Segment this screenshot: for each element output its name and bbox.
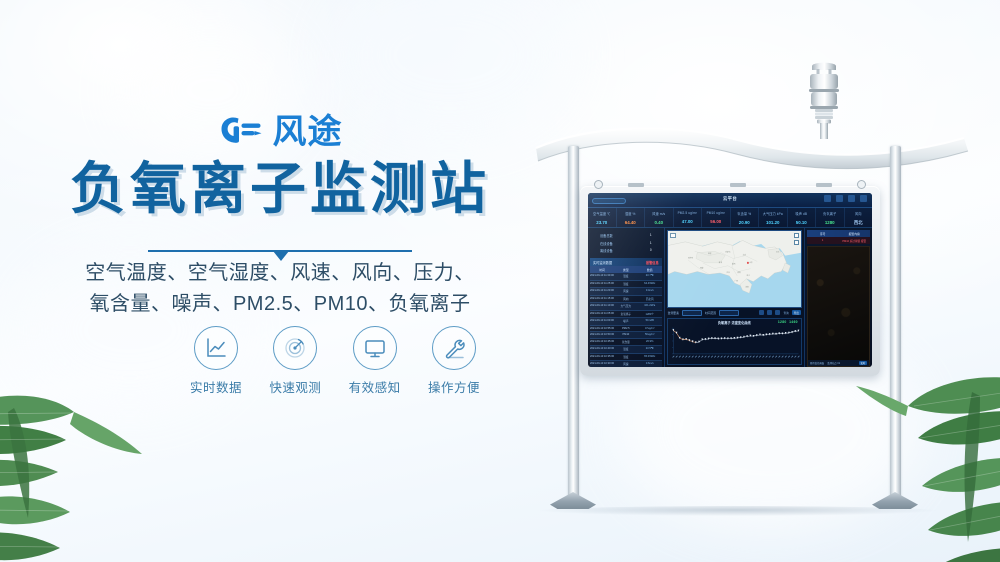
- device-stat-row: 离线设备0: [594, 247, 658, 254]
- dashboard-screen[interactable]: 云平台 空气温度 ℃23.70湿度 %64.40风速 m/s0.40PM2.5 …: [588, 193, 872, 367]
- wrench-icon: [432, 326, 476, 370]
- stat-label: 在线设备: [600, 241, 613, 246]
- metric-name: 风速 m/s: [645, 211, 673, 216]
- table-cell: 2021-09-13 11:25:00: [590, 281, 614, 288]
- metric-name: 大气压力 kPa: [759, 211, 787, 216]
- data-table-header: 实时监测数据 报警信息: [590, 258, 662, 266]
- feature-label: 有效感知: [341, 377, 409, 396]
- chart-date-label: 时间范围: [705, 311, 716, 315]
- table-cell: 温度: [614, 346, 638, 353]
- camera-label-left: 现场监控画面: [810, 361, 824, 365]
- table-row[interactable]: 2021-09-13 11:00:00噪声50.1dB: [590, 318, 662, 326]
- data-table-title: 实时监测数据: [593, 260, 612, 265]
- metric-card: 噪声 dB50.10: [788, 208, 817, 227]
- table-cell: 64.4%RH: [638, 281, 662, 288]
- metric-card: 风向西北: [845, 208, 873, 227]
- alarm-column-header: 序号: [807, 230, 839, 237]
- metric-name: PM2.5 ug/m³: [674, 211, 702, 215]
- table-cell: 风速: [614, 361, 638, 367]
- chart-query-button[interactable]: 查询: [783, 311, 788, 315]
- center-panel: 新疆内蒙古 北京山东 陕西青海 四川湖南 浙江广西 海南日本 西藏哈萨克: [665, 228, 804, 367]
- stat-label: 设备总数: [600, 233, 613, 238]
- device-stat-row: 设备总数1: [594, 232, 658, 239]
- table-cell: 20.9%: [638, 339, 662, 346]
- table-row[interactable]: 2021-09-13 11:05:00负氧离子1280个: [590, 311, 662, 319]
- chart-title: 负氧离子 浓度变化曲线: [718, 320, 751, 325]
- chart-element-select[interactable]: [682, 310, 702, 316]
- ground-shadow: [538, 506, 938, 516]
- hero-text-column: 风途 负氧离子监测站 空气温度、空气湿度、风速、风向、压力、 氧含量、噪声、PM…: [0, 0, 560, 562]
- table-row[interactable]: 2021-09-13 11:10:00大气压力101.2kPa: [590, 303, 662, 311]
- mount-clip-icon: [628, 183, 644, 187]
- right-panel: 序号报警内容 1PM10 超过阈值 报警 现场监控画面 监测站点 01 实时: [804, 228, 872, 367]
- table-cell: 47ug/m³: [638, 326, 662, 332]
- table-cell: 23.7℃: [638, 273, 662, 280]
- dashboard-body: 设备总数1在线设备1离线设备0 实时监测数据 报警信息 时间类型数值 2021-…: [588, 228, 872, 367]
- metric-value: 1280: [816, 220, 844, 225]
- metric-card: 风速 m/s0.40: [645, 208, 674, 227]
- table-row[interactable]: 2021-09-13 10:35:00湿度65.0%RH: [590, 354, 662, 362]
- metric-value: 23.70: [588, 220, 616, 225]
- table-cell: 2021-09-13 11:30:00: [590, 273, 614, 280]
- table-cell: 2021-09-13 11:00:00: [590, 318, 614, 325]
- metric-card: PM10 ug/m³56.00: [702, 208, 731, 227]
- banner-stage: 风途 负氧离子监测站 空气温度、空气湿度、风速、风向、压力、 氧含量、噪声、PM…: [0, 0, 1000, 562]
- metric-value: 47.00: [674, 219, 702, 224]
- camera-feed[interactable]: 现场监控画面 监测站点 01 实时: [807, 246, 870, 367]
- table-cell: 2021-09-13 11:20:00: [590, 288, 614, 295]
- data-table-columns: 时间类型数值: [590, 266, 662, 273]
- dashboard-header: 云平台: [588, 193, 872, 208]
- metric-name: 负氧离子: [816, 211, 844, 216]
- metric-card: 湿度 %64.40: [617, 208, 646, 227]
- stat-value: 1: [650, 233, 652, 238]
- table-row[interactable]: 2021-09-13 10:40:00温度23.5℃: [590, 346, 662, 354]
- table-cell: 氧含量: [614, 339, 638, 346]
- feature-item-fast-observation[interactable]: 快速观测: [261, 326, 329, 396]
- mount-ring-icon: [594, 180, 603, 189]
- header-nav[interactable]: [824, 195, 867, 202]
- chart-buttons[interactable]: [759, 310, 780, 315]
- china-map[interactable]: 新疆内蒙古 北京山东 陕西青海 四川湖南 浙江广西 海南日本 西藏哈萨克: [667, 230, 802, 308]
- svg-text:四川: 四川: [726, 271, 730, 274]
- data-table-rows[interactable]: 2021-09-13 11:30:00温度23.7℃2021-09-13 11:…: [590, 273, 662, 367]
- table-cell: 65.0%RH: [638, 354, 662, 361]
- table-cell: 2021-09-13 10:40:00: [590, 346, 614, 353]
- hero-subtitle: 空气温度、空气湿度、风速、风向、压力、 氧含量、噪声、PM2.5、PM10、负氧…: [0, 258, 560, 320]
- table-cell: 23.5℃: [638, 346, 662, 353]
- table-cell: 西北风: [638, 296, 662, 303]
- brand-name: 风途: [273, 115, 343, 149]
- user-icon[interactable]: [860, 195, 867, 202]
- monitoring-station-kiosk: 云平台 空气温度 ℃23.70湿度 %64.40风速 m/s0.40PM2.5 …: [520, 60, 980, 530]
- subtitle-line-1: 空气温度、空气湿度、风速、风向、压力、: [0, 258, 560, 289]
- table-row[interactable]: 2021-09-13 10:30:00风速0.6m/s: [590, 361, 662, 367]
- table-row[interactable]: 2021-09-13 10:45:00氧含量20.9%: [590, 339, 662, 347]
- feature-label: 快速观测: [261, 377, 329, 396]
- stat-label: 离线设备: [600, 248, 613, 253]
- feature-label: 实时数据: [182, 377, 250, 396]
- table-cell: 2021-09-13 10:30:00: [590, 361, 614, 367]
- chart-date-select[interactable]: [719, 310, 739, 316]
- alarm-table-header: 序号报警内容: [807, 230, 870, 237]
- mount-ring-icon: [857, 180, 866, 189]
- feature-label: 操作方便: [420, 377, 488, 396]
- feature-item-realtime-data[interactable]: 实时数据: [182, 326, 250, 396]
- table-row[interactable]: 2021-09-13 11:20:00风速0.4m/s: [590, 288, 662, 296]
- table-cell: 2021-09-13 10:35:00: [590, 354, 614, 361]
- left-panel: 设备总数1在线设备1离线设备0 实时监测数据 报警信息 时间类型数值 2021-…: [588, 228, 665, 367]
- table-cell: 2021-09-13 10:45:00: [590, 339, 614, 346]
- refresh-icon[interactable]: [759, 310, 764, 315]
- metric-card: 大气压力 kPa101.20: [759, 208, 788, 227]
- chart-toolbar: 监测要素 时间范围 查询 导出: [667, 308, 802, 318]
- export-icon[interactable]: [767, 310, 772, 315]
- metric-card: 氧含量 %20.90: [731, 208, 760, 227]
- mount-clip-icon: [730, 183, 746, 187]
- metric-name: 噪声 dB: [788, 211, 816, 216]
- stat-value: 1: [650, 241, 652, 246]
- table-row[interactable]: 2021-09-13 11:30:00温度23.7℃: [590, 273, 662, 281]
- alarm-column-header: 报警内容: [838, 230, 870, 237]
- alarm-label: 报警信息: [646, 260, 659, 265]
- table-cell: 0.6m/s: [638, 361, 662, 367]
- table-cell: PM10: [614, 332, 638, 338]
- table-row[interactable]: 2021-09-13 11:15:00风向西北风: [590, 296, 662, 304]
- table-cell: 湿度: [614, 281, 638, 288]
- camera-label-right: 监测站点 01: [827, 361, 840, 365]
- page-title: 负氧离子监测站: [0, 160, 560, 219]
- table-cell: 风速: [614, 288, 638, 295]
- metrics-strip: 空气温度 ℃23.70湿度 %64.40风速 m/s0.40PM2.5 ug/m…: [588, 208, 872, 228]
- table-cell: 2021-09-13 11:15:00: [590, 296, 614, 303]
- camera-image: [808, 247, 869, 366]
- stat-value: 0: [650, 248, 652, 253]
- site-selector[interactable]: [592, 198, 626, 204]
- table-cell: 噪声: [614, 318, 638, 325]
- metric-value: 西北: [845, 220, 873, 226]
- feature-item-easy-operation[interactable]: 操作方便: [420, 326, 488, 396]
- metric-value: 0.40: [645, 220, 673, 225]
- fullscreen-icon[interactable]: [775, 310, 780, 315]
- table-cell: 2021-09-13 10:50:00: [590, 332, 614, 338]
- metric-value: 50.10: [788, 220, 816, 225]
- table-cell: 2021-09-13 11:05:00: [590, 311, 614, 318]
- grid-icon[interactable]: [824, 195, 831, 202]
- metric-card: 负氧离子1280: [816, 208, 845, 227]
- table-column-header: 类型: [614, 266, 638, 273]
- chart-reading: 1280 1460: [778, 320, 798, 324]
- fengtu-g-logo-icon: [218, 112, 264, 152]
- alarm-cell: 1: [807, 237, 839, 244]
- table-cell: 温度: [614, 273, 638, 280]
- zoom-in-icon[interactable]: [794, 233, 799, 238]
- device-stat-row: 在线设备1: [594, 239, 658, 246]
- subtitle-line-2: 氧含量、噪声、PM2.5、PM10、负氧离子: [0, 289, 560, 320]
- support-post-icon: [890, 146, 901, 501]
- table-row[interactable]: 2021-09-13 11:25:00湿度64.4%RH: [590, 281, 662, 289]
- monitor-icon: [353, 326, 397, 370]
- camera-live-badge: 实时: [859, 361, 867, 366]
- table-column-header: 时间: [590, 266, 614, 273]
- metric-value: 20.90: [731, 220, 759, 225]
- table-cell: PM2.5: [614, 326, 638, 332]
- mount-clip-icon: [816, 183, 832, 187]
- chart-icon[interactable]: [848, 195, 855, 202]
- table-cell: 56ug/m³: [638, 332, 662, 338]
- chart-export-button[interactable]: 导出: [792, 310, 801, 315]
- table-cell: 2021-09-13 10:55:00: [590, 326, 614, 332]
- table-cell: 1280个: [638, 311, 662, 318]
- alarm-row[interactable]: 1PM10 超过阈值 报警: [807, 237, 870, 244]
- table-column-header: 数值: [638, 266, 662, 273]
- table-cell: 湿度: [614, 354, 638, 361]
- chart-select-label: 监测要素: [668, 311, 679, 315]
- metric-value: 64.40: [617, 220, 645, 225]
- zoom-out-icon[interactable]: [794, 240, 799, 245]
- metric-card: PM2.5 ug/m³47.00: [674, 208, 703, 227]
- line-chart-icon: [194, 326, 238, 370]
- metric-name: 风向: [845, 211, 873, 216]
- display-housing: 云平台 空气温度 ℃23.70湿度 %64.40风速 m/s0.40PM2.5 …: [580, 186, 880, 376]
- metric-value: 56.00: [702, 219, 730, 224]
- chart-plot: [668, 319, 801, 365]
- map-layer-icon[interactable]: [670, 233, 676, 238]
- device-stats: 设备总数1在线设备1离线设备0: [590, 230, 662, 257]
- metric-name: 空气温度 ℃: [588, 211, 616, 216]
- table-cell: 0.4m/s: [638, 288, 662, 295]
- metric-card: 空气温度 ℃23.70: [588, 208, 617, 227]
- metric-name: PM10 ug/m³: [702, 211, 730, 215]
- trend-chart[interactable]: 负氧离子 浓度变化曲线 1280 1460: [667, 318, 802, 366]
- table-cell: 101.2kPa: [638, 303, 662, 310]
- radar-signal-icon: [273, 326, 317, 370]
- table-cell: 风向: [614, 296, 638, 303]
- feature-list: 实时数据 快速观测: [182, 326, 488, 396]
- metric-name: 湿度 %: [617, 211, 645, 216]
- base-plate-icon: [550, 492, 596, 509]
- support-post-icon: [568, 146, 579, 501]
- table-cell: 2021-09-13 11:10:00: [590, 303, 614, 310]
- feature-item-effective-sensing[interactable]: 有效感知: [341, 326, 409, 396]
- dashboard-title: 云平台: [723, 196, 737, 202]
- brand-logo: 风途: [0, 112, 560, 152]
- table-cell: 50.1dB: [638, 318, 662, 325]
- map-controls[interactable]: [794, 233, 799, 245]
- alarm-cell: PM10 超过阈值 报警: [838, 237, 870, 244]
- base-plate-icon: [872, 492, 918, 509]
- alarm-table-rows[interactable]: 1PM10 超过阈值 报警: [807, 237, 870, 244]
- metric-name: 氧含量 %: [731, 211, 759, 216]
- table-cell: 大气压力: [614, 303, 638, 310]
- table-cell: 负氧离子: [614, 311, 638, 318]
- metric-value: 101.20: [759, 220, 787, 225]
- camera-statusbar: 现场监控画面 监测站点 01 实时: [808, 360, 869, 366]
- list-icon[interactable]: [836, 195, 843, 202]
- wavy-canopy-icon: [520, 118, 980, 174]
